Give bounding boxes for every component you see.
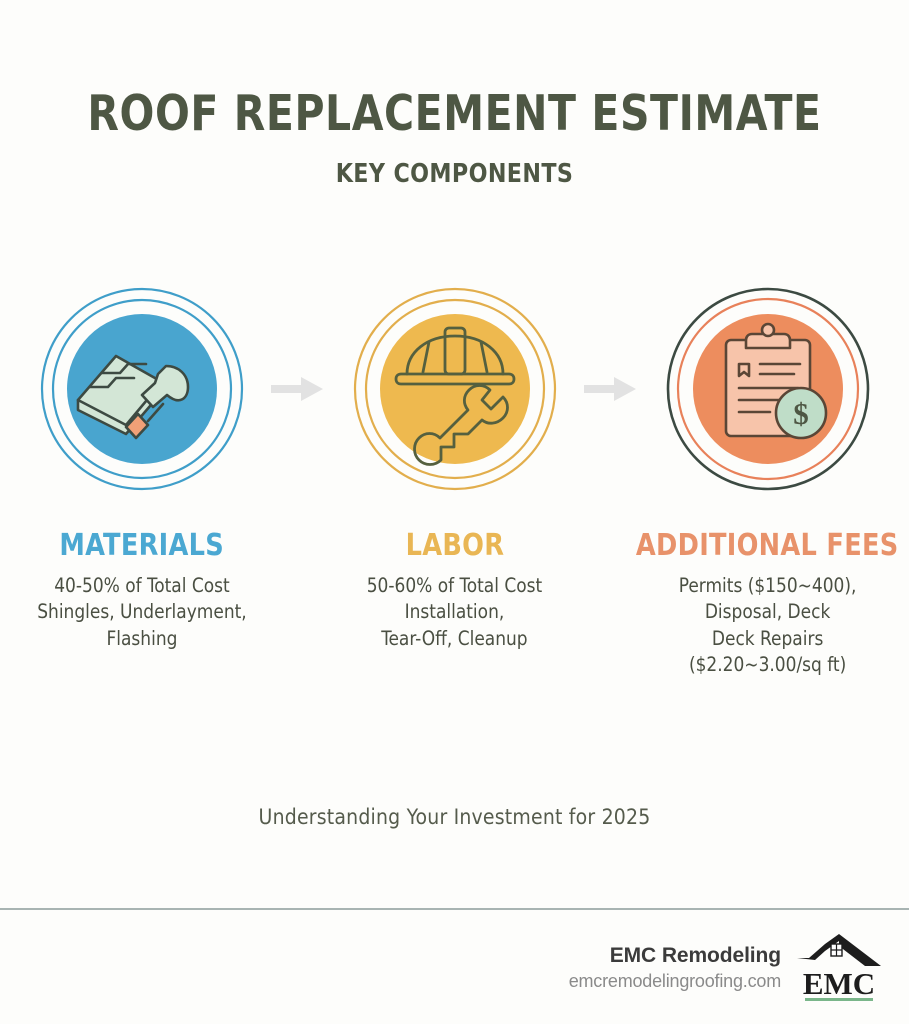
shingles-hammer-icon	[38, 282, 246, 496]
component-column-additional-fees: $ Additional Fees Permits ($150~400), Di…	[645, 282, 890, 678]
column-heading-labor: Labor	[405, 528, 504, 563]
medallion-additional-fees: $	[664, 282, 872, 496]
header: Roof Replacement Estimate Key Components	[0, 88, 909, 189]
emc-logo: EMC	[795, 932, 883, 1004]
components-row: Materials 40-50% of Total Cost Shingles,…	[0, 282, 909, 678]
column-heading-materials: Materials	[59, 528, 224, 563]
column-body-labor: 50-60% of Total Cost Installation, Tear-…	[367, 573, 542, 652]
brand-name: EMC Remodeling	[569, 944, 781, 968]
column-heading-additional-fees: Additional Fees	[636, 528, 899, 563]
house-roof-icon: EMC	[795, 932, 883, 1004]
tagline: Understanding Your Investment for 2025	[0, 805, 909, 829]
arrow-right-icon	[584, 375, 638, 403]
footer: EMC Remodeling emcremodelingroofing.com …	[569, 932, 883, 1004]
component-column-materials: Materials 40-50% of Total Cost Shingles,…	[19, 282, 264, 652]
component-column-labor: Labor 50-60% of Total Cost Installation,…	[332, 282, 577, 652]
column-body-additional-fees: Permits ($150~400), Disposal, Deck Deck …	[679, 573, 857, 678]
arrow-right-icon	[271, 375, 325, 403]
arrow-labor-to-fees	[577, 282, 645, 496]
clipboard-dollar-icon: $	[664, 282, 872, 496]
hardhat-wrench-icon	[351, 282, 559, 496]
medallion-labor	[351, 282, 559, 496]
medallion-materials	[38, 282, 246, 496]
page-title: Roof Replacement Estimate	[32, 88, 877, 139]
svg-text:$: $	[793, 396, 809, 431]
footer-text-block: EMC Remodeling emcremodelingroofing.com	[569, 944, 781, 992]
website-url[interactable]: emcremodelingroofing.com	[569, 971, 781, 992]
infographic-canvas: Roof Replacement Estimate Key Components	[0, 0, 909, 1024]
footer-divider	[0, 908, 909, 910]
column-body-materials: 40-50% of Total Cost Shingles, Underlaym…	[37, 573, 246, 652]
arrow-materials-to-labor	[264, 282, 332, 496]
page-subtitle: Key Components	[23, 159, 887, 189]
logo-wordmark: EMC	[803, 966, 875, 1001]
